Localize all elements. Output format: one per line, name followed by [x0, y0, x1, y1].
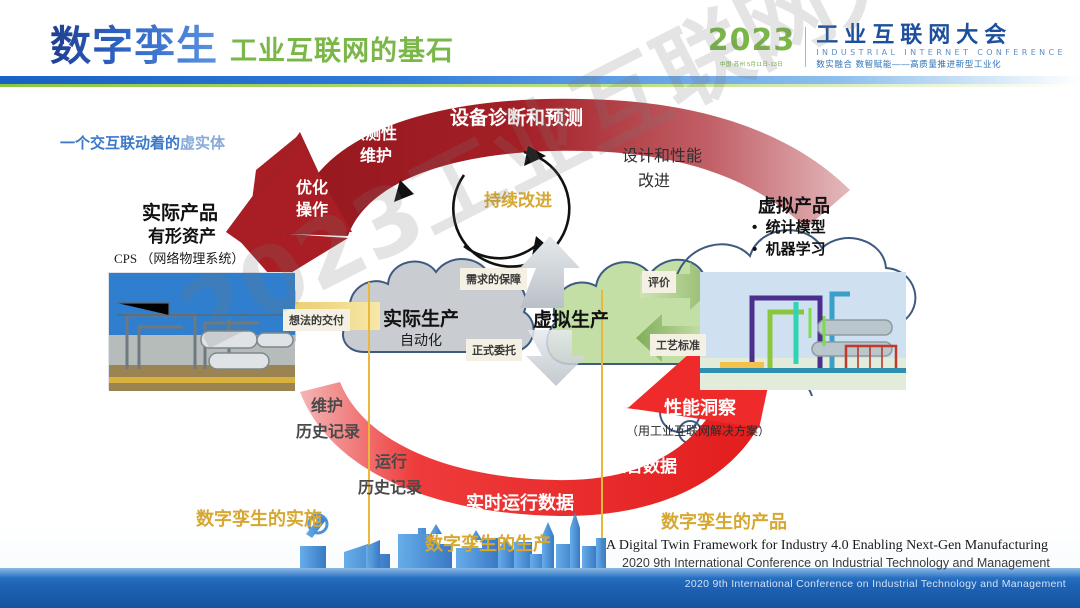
source-caption-title: A Digital Twin Framework for Industry 4.… [606, 538, 1048, 554]
real-production-sub: 自动化 [400, 330, 442, 350]
real-product-photo [108, 272, 294, 390]
virtual-product-bullet-0: • 统计模型 [752, 216, 826, 237]
real-product-cps: CPS （网络物理系统） [114, 248, 244, 267]
footer-text: 2020 9th International Conference on Ind… [685, 578, 1066, 590]
optimize-operation-line2: 操作 [296, 196, 328, 220]
virtual-product-title: 虚拟产品 [758, 192, 830, 218]
realtime-data-label: 实时运行数据 [466, 489, 574, 515]
intro-caption: 一个交互联动着的虚实体 [60, 132, 225, 153]
bullet-marker: • [752, 219, 766, 236]
source-caption-conference: 2020 9th International Conference on Ind… [622, 556, 1050, 570]
performance-insight-sub: （用工业互联网解决方案） [626, 422, 770, 439]
process-standard-label: 工艺标准 [650, 334, 706, 356]
intro-highlight: 虚实体 [180, 135, 225, 152]
virtual-production-title: 虚拟生产 [533, 305, 609, 332]
cycle-center-label: 持续改进 [484, 186, 552, 211]
formal-commission-label: 正式委托 [466, 339, 522, 361]
equipment-diagnosis-label: 设备诊断和预测 [450, 103, 583, 130]
performance-insight-label: 性能洞察 [664, 394, 736, 420]
operation-history-line1: 运行 [375, 448, 407, 472]
virtual-product-bullet-1: • 机器学习 [752, 238, 826, 259]
intro-prefix: 一个交互联动着的 [60, 135, 180, 152]
slide-canvas: 数字孪生 工业互联网的基石 2023 中国·苏州 5月11日-13日 工业互联网… [0, 0, 1080, 608]
bullet-label: 机器学习 [766, 241, 826, 258]
section-label-product: 数字孪生的产品 [661, 508, 787, 534]
bullet-marker: • [752, 241, 766, 258]
real-product-line2: 有形资产 [148, 222, 216, 247]
predictive-maintenance-line1: 预测性 [349, 120, 397, 144]
section-label-implementation: 数字孪生的实施 [196, 505, 322, 531]
optimize-operation-line1: 优化 [296, 174, 328, 198]
operation-history-line2: 历史记录 [358, 474, 422, 498]
real-product-line1: 实际产品 [142, 198, 218, 225]
maintenance-history-line2: 历史记录 [296, 418, 360, 442]
bullet-label: 统计模型 [766, 219, 826, 236]
design-performance-line1: 设计和性能 [622, 142, 702, 166]
evaluation-label: 评价 [642, 271, 676, 293]
aggregate-data-label: 聚合数据 [609, 452, 677, 477]
virtual-product-cad-image [700, 272, 906, 390]
maintenance-history-line1: 维护 [311, 392, 343, 416]
section-label-production: 数字孪生的生产 [425, 530, 551, 556]
predictive-maintenance-line2: 维护 [360, 142, 392, 166]
real-production-title: 实际生产 [383, 304, 459, 331]
demand-guarantee-label: 需求的保障 [460, 268, 527, 290]
design-performance-line2: 改进 [638, 167, 670, 191]
idea-delivery-label: 想法的交付 [283, 309, 350, 331]
